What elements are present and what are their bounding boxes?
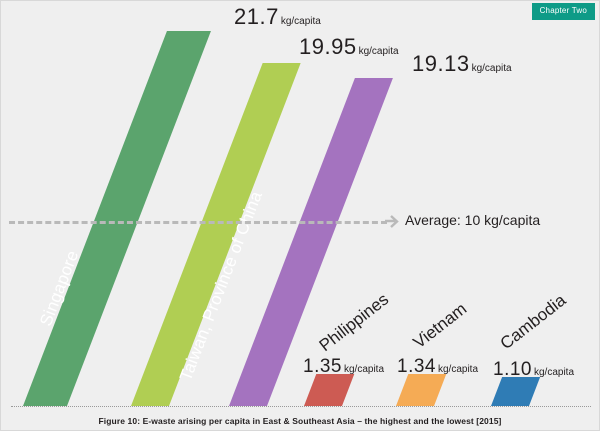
value-number-cambodia: 1.10 — [493, 359, 532, 380]
value-label-philippines: 1.35kg/capita — [303, 356, 384, 378]
bar-cambodia[interactable] — [491, 377, 540, 406]
plot-area: Hong Kong 21.7kg/capita Singapore 19.95k… — [1, 1, 600, 409]
bar-label-philippines: Philippines — [316, 290, 393, 356]
value-unit-philippines: kg/capita — [344, 364, 384, 375]
value-label-cambodia: 1.10kg/capita — [493, 359, 574, 381]
value-number-singapore: 19.95 — [299, 34, 357, 59]
average-label: Average: 10 kg/capita — [405, 212, 540, 228]
bar-label-vietnam: Vietnam — [410, 299, 471, 353]
bar-label-cambodia: Cambodia — [497, 291, 570, 354]
chapter-tag: Chapter Two — [532, 3, 595, 20]
value-number-taiwan: 19.13 — [412, 51, 470, 76]
value-unit-singapore: kg/capita — [359, 46, 399, 57]
value-number-vietnam: 1.34 — [397, 356, 436, 377]
value-unit-vietnam: kg/capita — [438, 364, 478, 375]
figure-caption: Figure 10: E-waste arising per capita in… — [1, 416, 599, 426]
value-label-hong-kong: 21.7kg/capita — [234, 4, 321, 30]
value-label-vietnam: 1.34kg/capita — [397, 356, 478, 378]
figure-container: Chapter Two Hong Kong 21.7kg/capita Sing… — [0, 0, 600, 431]
value-unit-cambodia: kg/capita — [534, 367, 574, 378]
value-number-hong-kong: 21.7 — [234, 4, 279, 29]
value-number-philippines: 1.35 — [303, 356, 342, 377]
average-line — [9, 221, 387, 224]
average-arrow-icon — [385, 214, 401, 230]
value-unit-hong-kong: kg/capita — [281, 16, 321, 27]
value-label-taiwan: 19.13kg/capita — [412, 51, 512, 77]
value-unit-taiwan: kg/capita — [472, 63, 512, 74]
bar-philippines[interactable] — [304, 374, 354, 406]
value-label-singapore: 19.95kg/capita — [299, 34, 399, 60]
bar-vietnam[interactable] — [396, 374, 446, 406]
baseline-axis — [11, 406, 591, 407]
